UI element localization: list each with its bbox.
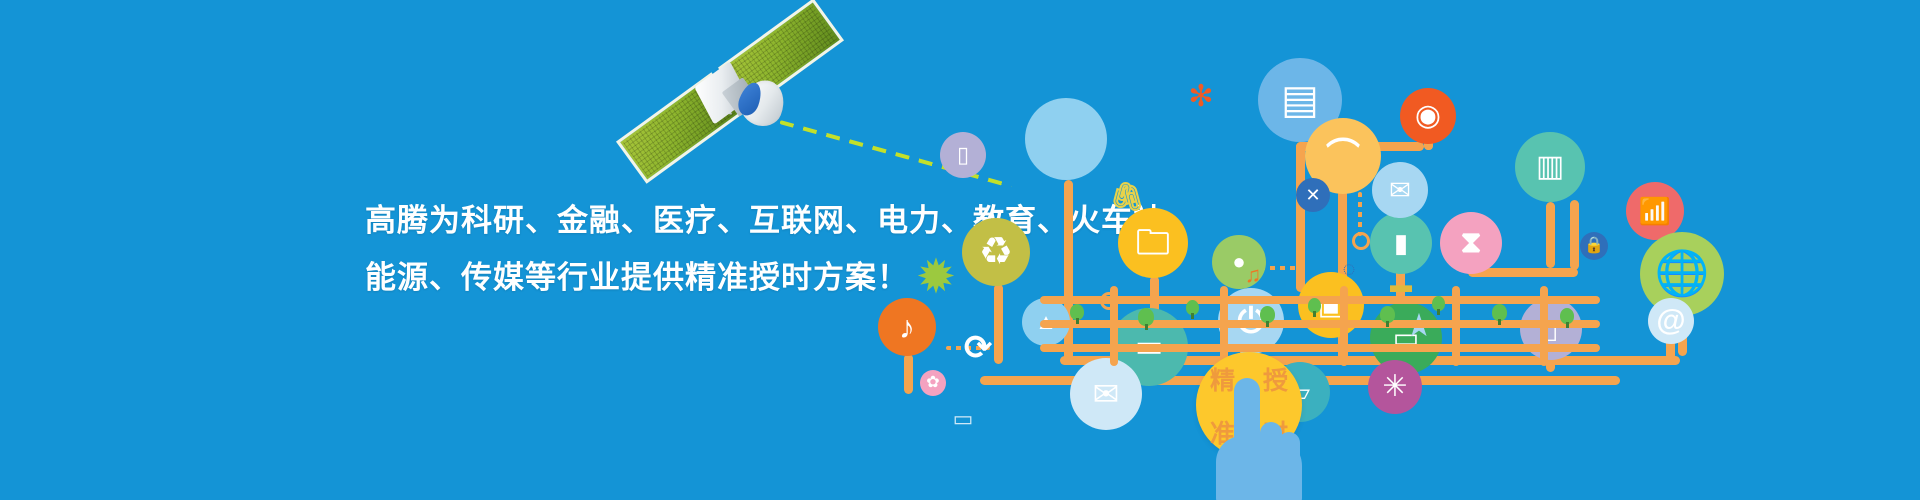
pink-flower-glyph: ✿: [926, 375, 939, 391]
stem: [904, 354, 913, 394]
envelope-blue-icon[interactable]: ✉: [1372, 162, 1428, 218]
connector-ring: [1352, 232, 1370, 250]
microphone-glyph: ▮: [1394, 230, 1408, 256]
satellite-illustration: [600, 10, 880, 190]
media-player-icon[interactable]: ▥: [1515, 132, 1585, 202]
media-player-glyph: ▥: [1536, 152, 1564, 182]
envelope-center-icon[interactable]: ✉: [1070, 358, 1142, 430]
monitor-small-glyph: ▭: [953, 408, 974, 430]
mobile-phone-glyph: ▯: [957, 144, 969, 166]
at-symbol-icon[interactable]: @: [1648, 298, 1694, 344]
ring-small-icon[interactable]: ◌: [1336, 256, 1362, 282]
mobile-phone-icon[interactable]: ▯: [940, 132, 986, 178]
ring-small-glyph: ◌: [1342, 258, 1355, 280]
music-note-icon[interactable]: ♪: [878, 298, 936, 356]
globe-wire-glyph: ✹: [916, 254, 956, 302]
refresh-arrows-icon[interactable]: ⟳: [958, 328, 998, 368]
tablet-wifi-icon[interactable]: [1025, 98, 1107, 180]
at-symbol-glyph: @: [1656, 306, 1685, 336]
road: [1110, 286, 1118, 366]
globe-wire-icon[interactable]: ✹: [908, 250, 964, 306]
camera-aperture-icon[interactable]: ◉: [1400, 88, 1456, 144]
gear-small-icon[interactable]: ✻: [1186, 82, 1216, 112]
road: [1040, 344, 1600, 352]
road: [1452, 286, 1460, 366]
asterisk-icon[interactable]: ✳: [1368, 360, 1422, 414]
recycle-icon[interactable]: ♻: [962, 218, 1030, 286]
road: [1220, 286, 1228, 366]
paperclip-glyph: 🖇: [1109, 183, 1145, 211]
pointing-hand-icon: [1208, 378, 1328, 500]
asterisk-glyph: ✳: [1382, 372, 1407, 402]
lock-icon[interactable]: 🔒: [1580, 232, 1608, 260]
headphones-glyph: ⌒: [1326, 139, 1360, 173]
music-small-icon[interactable]: ♫: [1240, 262, 1266, 288]
wifi-signal-icon[interactable]: 📶: [1626, 182, 1684, 240]
road: [1040, 320, 1600, 328]
music-small-glyph: ♫: [1245, 264, 1262, 286]
folder-glyph: 🗀: [1136, 226, 1170, 260]
hero-banner: 高腾为科研、金融、医疗、互联网、电力、教育、火车站、 能源、传媒等行业提供精准授…: [0, 0, 1920, 500]
folder-icon[interactable]: 🗀: [1118, 208, 1188, 278]
globe-grid-glyph: 🌐: [1655, 252, 1710, 296]
lock-glyph: 🔒: [1584, 238, 1604, 254]
microphone-icon[interactable]: ▮: [1370, 212, 1432, 274]
close-circle-icon[interactable]: ✕: [1296, 178, 1330, 212]
road: [1540, 286, 1548, 366]
refresh-arrows-glyph: ⟳: [964, 331, 993, 365]
hourglass-icon[interactable]: ⧗: [1440, 212, 1502, 274]
stem: [1570, 200, 1579, 270]
wifi-signal-glyph: 📶: [1639, 198, 1671, 224]
recycle-glyph: ♻: [979, 233, 1013, 271]
palm: [1216, 436, 1302, 500]
envelope-blue-glyph: ✉: [1389, 177, 1411, 203]
road: [1340, 286, 1348, 366]
stem: [1546, 202, 1555, 268]
pink-flower-icon[interactable]: ✿: [920, 370, 946, 396]
monitor-small-icon[interactable]: ▭: [946, 402, 980, 436]
document-glyph: ▤: [1281, 80, 1319, 120]
paperclip-icon[interactable]: 🖇: [1110, 180, 1144, 214]
camera-aperture-glyph: ◉: [1415, 101, 1441, 131]
base-map-illustration: [1040, 286, 1600, 366]
music-note-glyph: ♪: [899, 311, 915, 343]
hourglass-glyph: ⧗: [1460, 228, 1481, 258]
envelope-center-glyph: ✉: [1093, 378, 1120, 410]
dotted-connector: [1358, 192, 1362, 236]
gear-small-glyph: ✻: [1188, 82, 1213, 112]
close-circle-glyph: ✕: [1305, 186, 1320, 204]
